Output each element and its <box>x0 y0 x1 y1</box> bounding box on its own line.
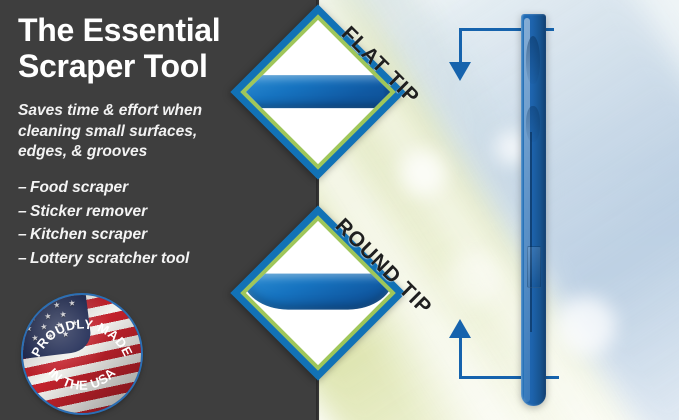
round-tip-blade-image <box>246 274 390 310</box>
subtitle: Saves time & effort when cleaning small … <box>18 101 258 163</box>
arrow-head-up-icon <box>449 319 471 338</box>
arrow-vertical-line <box>459 28 462 64</box>
badge-bottom-text: IN THE USA <box>45 365 118 393</box>
list-item-label: Kitchen scraper <box>30 226 147 243</box>
feature-list: –Food scraper –Sticker remover –Kitchen … <box>18 176 278 270</box>
badge-top-text: PROUDLY MADE <box>28 316 135 359</box>
list-item-label: Lottery scratcher tool <box>30 250 189 267</box>
bokeh-circle <box>400 150 446 196</box>
flat-tip-blade-image <box>246 75 390 108</box>
bullet-dash: – <box>18 200 30 224</box>
list-item: –Food scraper <box>18 176 278 200</box>
bullet-dash: – <box>18 176 30 200</box>
list-item-label: Food scraper <box>30 179 128 196</box>
list-item: –Kitchen scraper <box>18 223 278 247</box>
tool-groove <box>530 132 532 332</box>
arrow-vertical-line <box>459 337 462 379</box>
title-line-1: The Essential <box>18 13 300 49</box>
tool-embossed-logo <box>527 246 541 288</box>
scraper-tool-product-image <box>521 14 546 406</box>
tool-midsection-detail <box>526 106 540 142</box>
subtitle-line-3: edges, & grooves <box>18 142 258 163</box>
bokeh-circle <box>447 252 501 306</box>
bullet-dash: – <box>18 247 30 271</box>
bullet-dash: – <box>18 223 30 247</box>
list-item-label: Sticker remover <box>30 203 147 220</box>
made-in-usa-badge: ★ ★ ★ ★ ★ ★ ★★ ★ ★ ★ ★ ★ ★ PROUDLY MADE … <box>23 295 141 413</box>
tool-flat-tip-detail <box>526 36 540 84</box>
subtitle-line-1: Saves time & effort when <box>18 101 258 122</box>
subtitle-line-2: cleaning small surfaces, <box>18 122 258 143</box>
bokeh-circle <box>556 296 616 356</box>
product-infographic: The Essential Scraper Tool Saves time & … <box>0 0 679 420</box>
arrow-head-down-icon <box>449 62 471 81</box>
badge-arc-text: PROUDLY MADE IN THE USA <box>23 295 141 413</box>
list-item: –Lottery scratcher tool <box>18 247 278 271</box>
list-item: –Sticker remover <box>18 200 278 224</box>
